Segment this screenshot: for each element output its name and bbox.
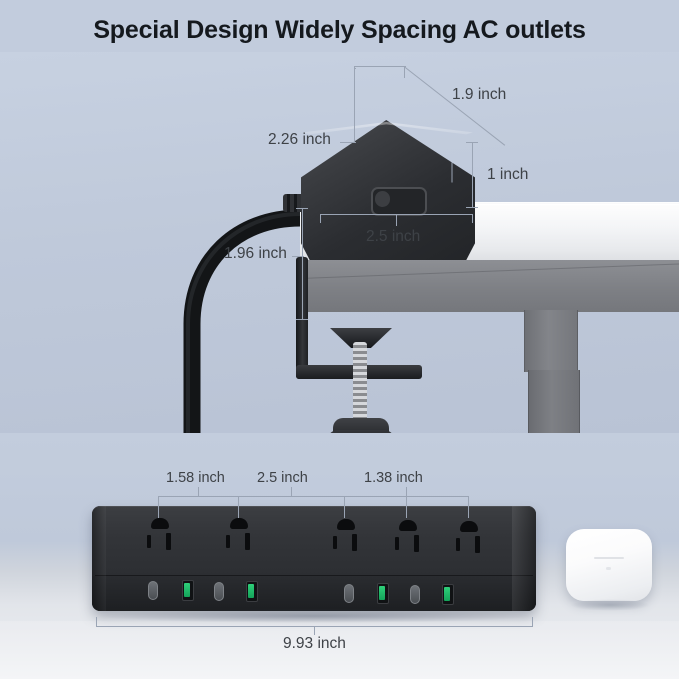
desk-clamp-scene [0, 52, 679, 433]
dim-ext-1-9-lower [452, 163, 453, 183]
ac-outlet-2[interactable] [218, 518, 260, 560]
outlet-ground-slot [460, 521, 478, 532]
outlet-ground-slot [230, 518, 248, 529]
dim-tick-1-9-a [404, 66, 405, 78]
dim-tick-1-38-center [406, 487, 407, 497]
outlet-ground-slot [399, 520, 417, 531]
outlet-ground-slot [337, 519, 355, 530]
dim-leader-2-5-desk [396, 214, 397, 226]
earbuds-case-shadow [570, 599, 650, 611]
usb-c-port-2[interactable] [214, 582, 224, 601]
dim-tick-9-93-left [96, 617, 97, 627]
usb-a-port-3[interactable] [377, 583, 389, 604]
ac-outlet-1[interactable] [139, 518, 181, 560]
dim-label-2-26-inch: 2.26 inch [268, 131, 331, 149]
dim-label-1-96-inch: 1.96 inch [224, 245, 287, 263]
power-strip-left-end [92, 506, 106, 611]
desk-underside [300, 260, 679, 312]
outlet-neutral-slot [226, 535, 230, 548]
usb-a-port-1[interactable] [182, 580, 194, 601]
outlet-neutral-slot [456, 538, 460, 551]
dim-leader-outlet-2 [238, 496, 239, 518]
outlet-neutral-slot [147, 535, 151, 548]
outlet-neutral-slot [333, 536, 337, 549]
page-title: Special Design Widely Spacing AC outlets [0, 16, 679, 45]
usb-a-insert [444, 587, 450, 601]
dim-arrow-1-96 [292, 256, 304, 257]
dim-tick-2-5-strip-center [291, 487, 292, 497]
dim-arrow-2-26 [340, 142, 356, 143]
desk-leg-upper [524, 310, 578, 372]
usb-a-insert [379, 586, 385, 600]
desk-leg-lower [528, 370, 580, 433]
dim-tick-2-5-desk-l [320, 214, 321, 223]
dim-label-1-inch: 1 inch [487, 166, 528, 184]
usb-a-insert [248, 584, 254, 598]
dim-leader-outlet-4 [406, 496, 407, 518]
outlet-hot-slot [352, 534, 357, 551]
dim-label-1-9-inch: 1.9 inch [452, 86, 506, 104]
dim-tick-1-96-bot [296, 319, 308, 320]
dim-tick-9-93-right [532, 617, 533, 627]
dim-ext-1-9-upper [354, 66, 406, 67]
earbuds-case-indicator [606, 567, 611, 570]
dim-leader-outlet-1 [158, 496, 159, 518]
usb-c-port-1[interactable] [148, 581, 158, 600]
ac-outlet-5[interactable] [448, 521, 490, 563]
power-strip-base-band [92, 576, 536, 611]
outlet-hot-slot [414, 535, 419, 552]
usb-c-port-4[interactable] [410, 585, 420, 604]
earbuds-case-seam [594, 557, 624, 559]
ac-outlet-4[interactable] [387, 520, 429, 562]
dim-leader-outlet-3 [344, 496, 345, 518]
dim-label-2-5-inch-desk: 2.5 inch [366, 228, 420, 246]
usb-a-port-4[interactable] [442, 584, 454, 605]
outlet-hot-slot [166, 533, 171, 550]
product-dimension-infographic: Special Design Widely Spacing AC outlets [0, 0, 679, 679]
power-strip-shadow [100, 609, 530, 623]
power-strip-right-end [512, 506, 536, 611]
dim-leader-outlet-5 [468, 496, 469, 518]
outlet-hot-slot [245, 533, 250, 550]
dim-leader-9-93-center [314, 626, 315, 635]
ac-outlet-3[interactable] [325, 519, 367, 561]
dim-ext-2-26-left [354, 66, 355, 142]
dim-line-1-inch [472, 142, 473, 208]
dim-tick-1-58-center [198, 487, 199, 497]
dim-label-1-38-inch: 1.38 inch [364, 470, 423, 486]
usb-a-port-2[interactable] [246, 581, 258, 602]
outlet-neutral-slot [395, 537, 399, 550]
usb-a-insert [184, 583, 190, 597]
dim-label-2-5-inch-strip: 2.5 inch [257, 470, 308, 486]
dim-label-1-58-inch: 1.58 inch [166, 470, 225, 486]
dim-tick-1-inch-top [466, 142, 478, 143]
dim-line-1-96-inch [302, 208, 303, 320]
dim-tick-1-inch-bot [466, 207, 478, 208]
dim-tick-1-96-top [296, 208, 308, 209]
outlet-hot-slot [475, 536, 480, 553]
earbuds-charging-case [566, 529, 652, 601]
power-switch-indicator [375, 191, 390, 207]
outlet-ground-slot [151, 518, 169, 529]
clamp-screw-spring [353, 342, 367, 426]
dim-tick-2-5-desk-r [472, 214, 473, 223]
usb-c-port-3[interactable] [344, 584, 354, 603]
dim-label-9-93-inch: 9.93 inch [283, 635, 346, 653]
power-cord [178, 204, 300, 433]
